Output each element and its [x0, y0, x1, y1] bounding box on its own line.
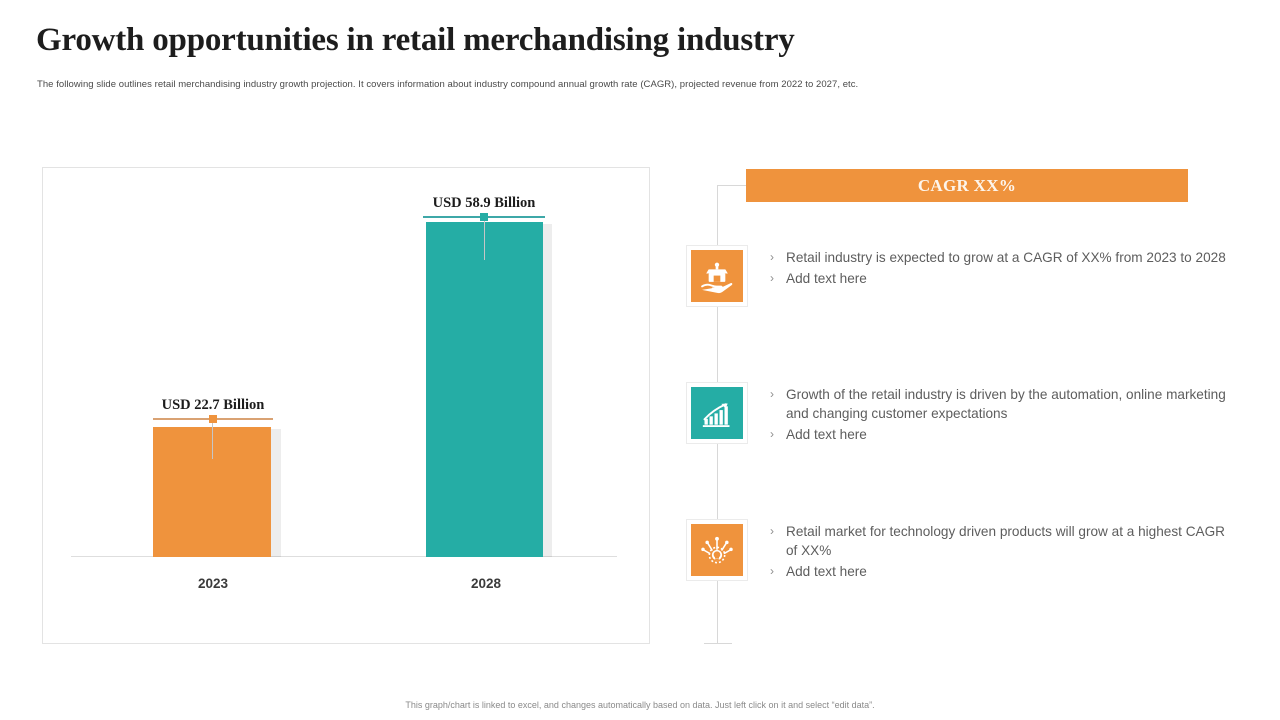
value-callout-2028: USD 58.9 Billion	[423, 194, 545, 218]
cagr-banner-label: CAGR XX%	[918, 176, 1016, 196]
icon-frame-2[interactable]	[686, 382, 748, 444]
tree-connector-foot	[704, 643, 732, 644]
chevron-right-icon: ›	[770, 425, 786, 444]
insight-bullets-1: › Retail industry is expected to grow at…	[770, 245, 1230, 290]
insight-bullets-2: › Growth of the retail industry is drive…	[770, 382, 1230, 446]
chevron-right-icon: ›	[770, 248, 786, 267]
list-item: › Add text here	[770, 425, 1230, 444]
list-item: › Add text here	[770, 562, 1230, 581]
bullet-text: Retail market for technology driven prod…	[786, 522, 1230, 560]
list-item: › Retail market for technology driven pr…	[770, 522, 1230, 560]
page-title: Growth opportunities in retail merchandi…	[36, 22, 795, 59]
icon-frame-3[interactable]	[686, 519, 748, 581]
value-callout-2023: USD 22.7 Billion	[153, 396, 273, 420]
value-label-2028: USD 58.9 Billion	[423, 194, 545, 212]
leader-line-2028	[484, 219, 485, 260]
chevron-right-icon: ›	[770, 269, 786, 288]
insight-bullets-3: › Retail market for technology driven pr…	[770, 519, 1230, 583]
technology-innovation-icon	[691, 524, 743, 576]
footer-note: This graph/chart is linked to excel, and…	[0, 700, 1280, 710]
chevron-right-icon: ›	[770, 385, 786, 404]
insight-row-1: › Retail industry is expected to grow at…	[686, 245, 1230, 307]
bullet-text: Add text here	[786, 269, 867, 288]
icon-frame-1[interactable]	[686, 245, 748, 307]
insight-row-3: › Retail market for technology driven pr…	[686, 519, 1230, 583]
category-label-2028: 2028	[426, 576, 546, 591]
bar-group-2028	[426, 235, 546, 557]
value-label-2023: USD 22.7 Billion	[153, 396, 273, 414]
leader-line-2023	[212, 421, 213, 459]
bar-2028[interactable]	[426, 222, 543, 557]
category-label-2023: 2023	[153, 576, 273, 591]
hand-holding-shop-icon	[691, 250, 743, 302]
bullet-text: Add text here	[786, 562, 867, 581]
callout-rule-2023	[153, 418, 273, 420]
chevron-right-icon: ›	[770, 522, 786, 541]
callout-rule-2028	[423, 216, 545, 218]
chart-card: 2023 2028 USD 22.7 Billion USD 58.9 Bill…	[42, 167, 650, 644]
growth-chart-arrow-icon	[691, 387, 743, 439]
bar-chart[interactable]: 2023 2028 USD 22.7 Billion USD 58.9 Bill…	[43, 168, 649, 643]
bullet-text: Add text here	[786, 425, 867, 444]
page-subtitle: The following slide outlines retail merc…	[37, 79, 858, 90]
bullet-text: Growth of the retail industry is driven …	[786, 385, 1230, 423]
list-item: › Growth of the retail industry is drive…	[770, 385, 1230, 423]
chevron-right-icon: ›	[770, 562, 786, 581]
list-item: › Add text here	[770, 269, 1230, 288]
tree-connector-stub	[717, 185, 747, 186]
insight-row-2: › Growth of the retail industry is drive…	[686, 382, 1230, 446]
list-item: › Retail industry is expected to grow at…	[770, 248, 1230, 267]
cagr-banner[interactable]: CAGR XX%	[746, 169, 1188, 202]
bullet-text: Retail industry is expected to grow at a…	[786, 248, 1226, 267]
